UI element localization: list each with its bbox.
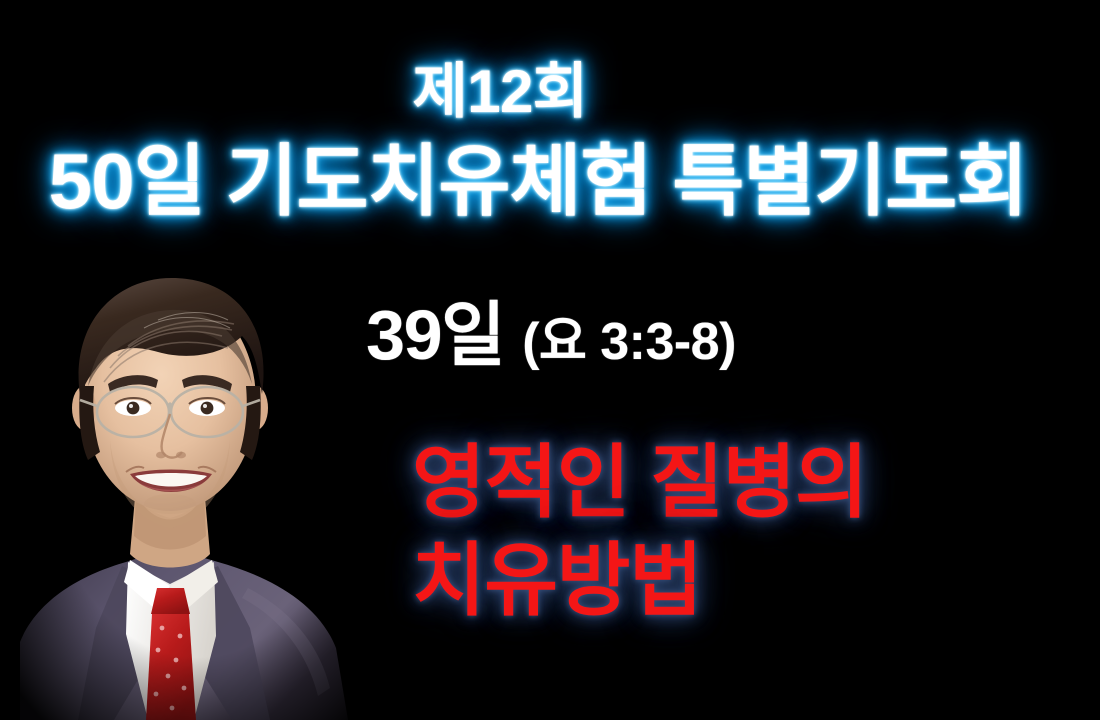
- event-title: 50일 기도치유체험 특별기도회: [0, 142, 1076, 220]
- scripture-reference: (요 3:3-8): [522, 313, 736, 371]
- presentation-slide: 제12회 50일 기도치유체험 특별기도회 39일 (요 3:3-8) 영적인 …: [0, 0, 1100, 720]
- sermon-title-line-1: 영적인 질병의: [412, 434, 932, 532]
- day-number: 39일: [366, 296, 504, 374]
- sermon-title: 영적인 질병의 치유방법: [412, 434, 932, 629]
- day-and-scripture: 39일 (요 3:3-8): [0, 300, 1100, 370]
- episode-number: 제12회: [0, 62, 1000, 122]
- sermon-title-line-2: 치유방법: [412, 532, 932, 630]
